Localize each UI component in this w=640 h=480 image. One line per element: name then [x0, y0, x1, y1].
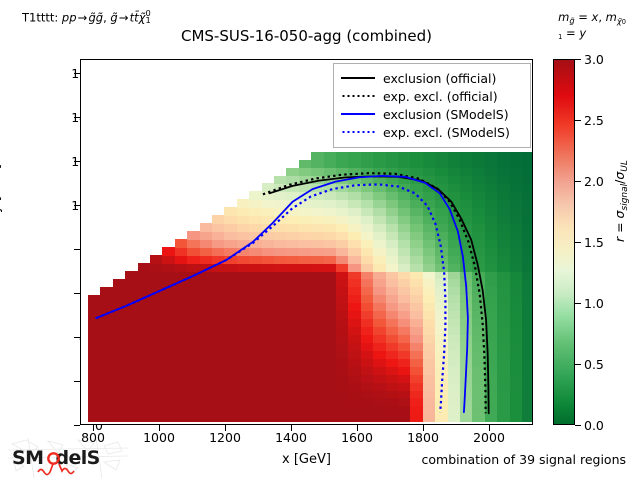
heatmap-cell [373, 287, 386, 296]
heatmap-cell [460, 358, 473, 367]
heatmap-cell [373, 382, 386, 391]
heatmap-cell [522, 414, 533, 423]
heatmap-cell [373, 303, 386, 312]
heatmap-cell [398, 390, 411, 399]
heatmap-cell [510, 263, 523, 272]
heatmap-cell [324, 414, 337, 423]
heatmap-cell [187, 358, 200, 367]
heatmap-cell [311, 199, 324, 208]
heatmap-cell [448, 215, 461, 224]
heatmap-cell [274, 295, 287, 304]
heatmap-cell [224, 398, 237, 407]
heatmap-cell [100, 382, 113, 391]
legend-item-exp-excl-official[interactable]: exp. excl. (official) [340, 87, 524, 105]
page-title: CMS-SUS-16-050-agg (combined) [80, 27, 533, 45]
heatmap-cell [286, 406, 299, 415]
heatmap-cell [138, 366, 151, 375]
heatmap-cell [200, 247, 213, 256]
heatmap-cell [125, 310, 138, 319]
heatmap-cell [373, 207, 386, 216]
heatmap-cell [324, 176, 337, 185]
heatmap-cell [162, 382, 175, 391]
heatmap-cell [348, 271, 361, 280]
heatmap-cell [472, 168, 485, 177]
heatmap-cell [448, 183, 461, 192]
heatmap-cell [175, 334, 188, 343]
heatmap-cell [262, 271, 275, 280]
heatmap-cell [113, 342, 126, 351]
heatmap-cell [299, 215, 312, 224]
heatmap-cell [423, 152, 436, 161]
heatmap-cell [336, 414, 349, 423]
heatmap-cell [175, 263, 188, 272]
heatmap-cell [324, 160, 337, 169]
heatmap-cell [249, 287, 262, 296]
heatmap-cell [410, 398, 423, 407]
heatmap-cell [237, 231, 250, 240]
heatmap-cell [88, 374, 101, 383]
heatmap-cell [361, 303, 374, 312]
heatmap-cell [497, 176, 510, 185]
heatmap-cell [472, 398, 485, 407]
heatmap-cell [150, 398, 163, 407]
heatmap-cell [348, 358, 361, 367]
heatmap-cell [162, 303, 175, 312]
heatmap-cell [162, 374, 175, 383]
heatmap-cell [324, 223, 337, 232]
heatmap-cell [125, 350, 138, 359]
heatmap-cell [373, 255, 386, 264]
heatmap-cell [435, 215, 448, 224]
heatmap-cell [373, 176, 386, 185]
heatmap-cell [138, 334, 151, 343]
heatmap-cell [162, 334, 175, 343]
heatmap-cell [150, 318, 163, 327]
heatmap-cell [348, 374, 361, 383]
heatmap-cell [274, 358, 287, 367]
heatmap-cell [262, 263, 275, 272]
legend-item-exp-excl-smodels[interactable]: exp. excl. (SModelS) [340, 123, 524, 141]
heatmap-cell [410, 207, 423, 216]
heatmap-cell [162, 390, 175, 399]
heatmap-cell [510, 414, 523, 423]
heatmap-cell [373, 215, 386, 224]
heatmap-cell [100, 390, 113, 399]
heatmap-cell [522, 168, 533, 177]
heatmap-cell [212, 247, 225, 256]
heatmap-cell [410, 358, 423, 367]
heatmap-cell [373, 160, 386, 169]
heatmap-cell [472, 207, 485, 216]
heatmap-cell [373, 223, 386, 232]
heatmap-cell [212, 271, 225, 280]
heatmap-cell [224, 223, 237, 232]
heatmap-cell [448, 287, 461, 296]
heatmap-cell [262, 366, 275, 375]
heatmap-cell [336, 390, 349, 399]
heatmap-cell [175, 358, 188, 367]
line-sample-solid-black [340, 71, 376, 85]
heatmap-cell [88, 350, 101, 359]
xtick-label-1200: 1200 [195, 430, 255, 445]
heatmap-cell [299, 255, 312, 264]
heatmap-cell [435, 263, 448, 272]
heatmap-cell [212, 295, 225, 304]
heatmap-cell [249, 279, 262, 288]
heatmap-cell [435, 334, 448, 343]
heatmap-cell [162, 310, 175, 319]
heatmap-cell [286, 223, 299, 232]
heatmap-cell [373, 318, 386, 327]
heatmap-cell [348, 231, 361, 240]
heatmap-cell [497, 271, 510, 280]
heatmap-cell [472, 239, 485, 248]
heatmap-cell [373, 183, 386, 192]
heatmap-cell [286, 255, 299, 264]
heatmap-cell [398, 303, 411, 312]
heatmap-cell [299, 295, 312, 304]
xtick-label-1400: 1400 [261, 430, 321, 445]
heatmap-cell [100, 366, 113, 375]
heatmap-cell [448, 160, 461, 169]
heatmap-cell [324, 342, 337, 351]
heatmap-cell [150, 382, 163, 391]
heatmap-cell [472, 191, 485, 200]
heatmap-cell [299, 374, 312, 383]
heatmap-cell [224, 390, 237, 399]
smodels-logo[interactable]: SM delS [8, 438, 128, 478]
heatmap-cell [299, 239, 312, 248]
heatmap-cell [262, 342, 275, 351]
heatmap-cell [274, 390, 287, 399]
heatmap-cell [460, 207, 473, 216]
heatmap-cell [162, 255, 175, 264]
heatmap-cell [286, 287, 299, 296]
heatmap-cell [187, 334, 200, 343]
heatmap-cell [187, 326, 200, 335]
heatmap-cell [138, 326, 151, 335]
heatmap-cell [299, 199, 312, 208]
heatmap-cell [448, 271, 461, 280]
heatmap-cell [448, 318, 461, 327]
heatmap-cell [324, 374, 337, 383]
heatmap-cell [212, 303, 225, 312]
heatmap-cell [348, 406, 361, 415]
heatmap-cell [423, 398, 436, 407]
heatmap-cell [497, 295, 510, 304]
heatmap-cell [100, 342, 113, 351]
heatmap-cell [522, 191, 533, 200]
heatmap-cell [249, 239, 262, 248]
heatmap-cell [398, 160, 411, 169]
heatmap-cell [274, 350, 287, 359]
heatmap-cell [386, 326, 399, 335]
heatmap-cell [224, 247, 237, 256]
heatmap-cell [361, 152, 374, 161]
heatmap-cell [200, 239, 213, 248]
heatmap-cell [361, 414, 374, 423]
heatmap-cell [299, 406, 312, 415]
heatmap-cell [497, 358, 510, 367]
heatmap-cell [522, 223, 533, 232]
heatmap-cell [274, 287, 287, 296]
heatmap-cell [262, 350, 275, 359]
heatmap-cell [200, 231, 213, 240]
heatmap-cell [497, 303, 510, 312]
heatmap-cell [162, 263, 175, 272]
heatmap-cell [398, 342, 411, 351]
heatmap-cell [361, 207, 374, 216]
heatmap-cell [460, 382, 473, 391]
heatmap-cell [373, 406, 386, 415]
heatmap-cell [336, 247, 349, 256]
heatmap-cell [410, 279, 423, 288]
heatmap-cell [510, 215, 523, 224]
heatmap-cell [497, 215, 510, 224]
heatmap-cell [448, 247, 461, 256]
heatmap-cell [100, 295, 113, 304]
heatmap-cell [324, 310, 337, 319]
heatmap-cell [237, 295, 250, 304]
heatmap-cell [510, 239, 523, 248]
heatmap-cell [200, 303, 213, 312]
heatmap-cell [361, 168, 374, 177]
signal-regions-caption: combination of 39 signal regions [422, 452, 627, 467]
heatmap-cell [286, 334, 299, 343]
heatmap-cell [373, 334, 386, 343]
heatmap-cell [510, 191, 523, 200]
heatmap-cell [497, 326, 510, 335]
legend-item-exclusion-smodels[interactable]: exclusion (SModelS) [340, 105, 524, 123]
heatmap-cell [435, 350, 448, 359]
heatmap-cell [162, 295, 175, 304]
heatmap-cell [485, 160, 498, 169]
heatmap-cell [88, 398, 101, 407]
heatmap-cell [423, 310, 436, 319]
heatmap-cell [448, 366, 461, 375]
heatmap-cell [224, 358, 237, 367]
heatmap-cell [125, 358, 138, 367]
heatmap-cell [373, 310, 386, 319]
heatmap-cell [361, 223, 374, 232]
heatmap-cell [311, 160, 324, 169]
heatmap-cell [361, 231, 374, 240]
heatmap-cell [299, 310, 312, 319]
heatmap-cell [361, 326, 374, 335]
heatmap-cell [510, 366, 523, 375]
heatmap-cell [373, 247, 386, 256]
heatmap-cell [386, 247, 399, 256]
heatmap-cell [410, 160, 423, 169]
heatmap-cell [361, 191, 374, 200]
heatmap-cell [150, 342, 163, 351]
heatmap-cell [324, 334, 337, 343]
heatmap-cell [113, 326, 126, 335]
heatmap-cell [423, 414, 436, 423]
heatmap-cell [410, 176, 423, 185]
heatmap-cell [224, 374, 237, 383]
heatmap-cell [348, 414, 361, 423]
heatmap-cell [138, 303, 151, 312]
heatmap-cell [423, 207, 436, 216]
heatmap-cell [274, 382, 287, 391]
colorbar-label: r = σsignal/σUL [612, 160, 630, 242]
heatmap-cell [485, 215, 498, 224]
heatmap-cell [348, 350, 361, 359]
heatmap-cell [460, 183, 473, 192]
heatmap-cell [522, 334, 533, 343]
heatmap-cell [150, 350, 163, 359]
heatmap-cell [435, 295, 448, 304]
heatmap-cell [88, 310, 101, 319]
heatmap-cell [423, 271, 436, 280]
heatmap-cell [88, 318, 101, 327]
heatmap-cell [237, 382, 250, 391]
heatmap-cell [522, 183, 533, 192]
heatmap-cell [485, 358, 498, 367]
heatmap-cell [348, 326, 361, 335]
heatmap-cell [398, 366, 411, 375]
heatmap-cell [522, 303, 533, 312]
heatmap-cell [373, 168, 386, 177]
heatmap-cell [125, 366, 138, 375]
heatmap-cell [448, 279, 461, 288]
heatmap-cell [324, 263, 337, 272]
cbar-tick-5: 2.5 [584, 113, 618, 128]
heatmap-cell [472, 223, 485, 232]
heatmap-cell [262, 390, 275, 399]
heatmap-cell [200, 414, 213, 423]
heatmap-cell [423, 199, 436, 208]
heatmap-cell [274, 223, 287, 232]
heatmap-cell [224, 406, 237, 415]
heatmap-cell [113, 358, 126, 367]
heatmap-cell [410, 326, 423, 335]
heatmap-cell [249, 310, 262, 319]
heatmap-cell [423, 326, 436, 335]
heatmap-cell [100, 406, 113, 415]
heatmap-cell [497, 207, 510, 216]
heatmap-cell [237, 342, 250, 351]
heatmap-cell [262, 223, 275, 232]
heatmap-cell [212, 326, 225, 335]
heatmap-cell [398, 279, 411, 288]
heatmap-cell [386, 350, 399, 359]
heatmap-cell [286, 310, 299, 319]
heatmap-cell [522, 239, 533, 248]
heatmap-cell [150, 263, 163, 272]
heatmap-cell [435, 271, 448, 280]
heatmap-cell [249, 231, 262, 240]
heatmap-cell [410, 366, 423, 375]
heatmap-cell [162, 287, 175, 296]
heatmap-cell [138, 287, 151, 296]
heatmap-cell [175, 414, 188, 423]
heatmap-cell [113, 406, 126, 415]
heatmap-cell [249, 191, 262, 200]
heatmap-cell [286, 326, 299, 335]
heatmap-cell [324, 152, 337, 161]
heatmap-cell [348, 191, 361, 200]
heatmap-cell [410, 183, 423, 192]
heatmap-cell [510, 168, 523, 177]
heatmap-cell [212, 342, 225, 351]
heatmap-cell [348, 334, 361, 343]
heatmap-cell [175, 247, 188, 256]
heatmap-cell [262, 374, 275, 383]
heatmap-cell [262, 247, 275, 256]
heatmap-cell [162, 271, 175, 280]
heatmap-cell [472, 215, 485, 224]
heatmap-cell [274, 414, 287, 423]
heatmap-cell [460, 255, 473, 264]
heatmap-cell [361, 279, 374, 288]
heatmap-cell [386, 191, 399, 200]
heatmap-cell [448, 310, 461, 319]
legend-item-exclusion-official[interactable]: exclusion (official) [340, 69, 524, 87]
heatmap-cell [398, 350, 411, 359]
heatmap-cell [472, 374, 485, 383]
heatmap-cell [237, 326, 250, 335]
heatmap-cell [336, 334, 349, 343]
heatmap-cell [386, 398, 399, 407]
heatmap-cell [324, 358, 337, 367]
xtick-label-1600: 1600 [327, 430, 387, 445]
heatmap-cell [324, 326, 337, 335]
heatmap-cell [522, 287, 533, 296]
heatmap-cell [100, 398, 113, 407]
heatmap-cell [336, 295, 349, 304]
heatmap-cell [485, 295, 498, 304]
heatmap-cell [522, 199, 533, 208]
heatmap-cell [162, 247, 175, 256]
heatmap-cell [386, 152, 399, 161]
heatmap-cell [485, 152, 498, 161]
heatmap-cell [274, 303, 287, 312]
heatmap-cell [348, 168, 361, 177]
heatmap-cell [460, 406, 473, 415]
heatmap-cell [311, 374, 324, 383]
heatmap-cell [386, 231, 399, 240]
heatmap-cell [448, 334, 461, 343]
heatmap-cell [187, 295, 200, 304]
heatmap-cell [237, 223, 250, 232]
heatmap-cell [510, 279, 523, 288]
heatmap-cell [274, 263, 287, 272]
heatmap-cell [448, 358, 461, 367]
heatmap-cell [348, 183, 361, 192]
heatmap-cell [460, 176, 473, 185]
heatmap-cell [212, 398, 225, 407]
heatmap-cell [485, 247, 498, 256]
heatmap-cell [100, 414, 113, 423]
heatmap-cell [237, 398, 250, 407]
heatmap-cell [311, 215, 324, 224]
heatmap-cell [522, 152, 533, 161]
heatmap-cell [361, 176, 374, 185]
heatmap-cell [448, 406, 461, 415]
heatmap-cell [150, 406, 163, 415]
heatmap-cell [274, 279, 287, 288]
heatmap-cell [274, 406, 287, 415]
heatmap-cell [510, 207, 523, 216]
heatmap-cell [212, 414, 225, 423]
heatmap-cell [150, 279, 163, 288]
heatmap-cell [88, 342, 101, 351]
heatmap-cell [336, 310, 349, 319]
heatmap-cell [274, 342, 287, 351]
heatmap-cell [274, 334, 287, 343]
